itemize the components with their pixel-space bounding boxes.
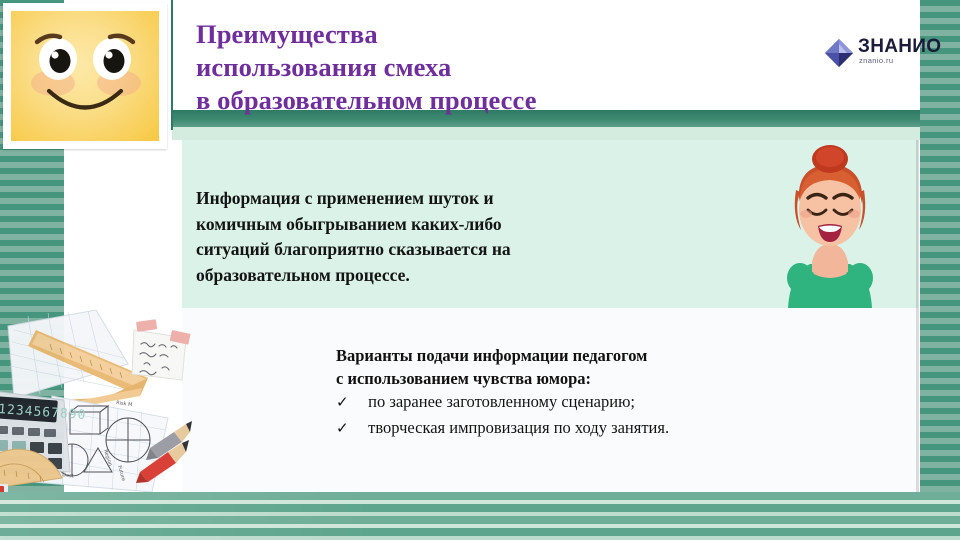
options-heading-line-2: с использованием чувства юмора:: [336, 367, 856, 390]
znanio-logo[interactable]: ЗНАНИО znanio.ru: [824, 36, 944, 76]
list-item-label: творческая импровизация по ходу занятия.: [368, 418, 669, 437]
intro-paragraph: Информация с применением шуток и комичны…: [196, 186, 666, 288]
page-title-line-2: использования смеха: [196, 51, 816, 84]
list-item: ✓ по заранее заготовленному сценарию;: [336, 390, 856, 416]
checkmark-icon: ✓: [336, 392, 364, 416]
school-supplies-illustration: Risk M Main Region Future Dest: [0, 300, 250, 492]
options-heading-line-1: Варианты подачи информации педагогом: [336, 344, 856, 367]
list-item: ✓ творческая импровизация по ходу заняти…: [336, 416, 856, 442]
header-mint-bar: [172, 127, 920, 140]
panel-right-edge-shadow: [916, 140, 919, 492]
logo-name: ЗНАНИО: [858, 36, 941, 57]
intro-line-3: ситуаций благоприятно сказывается на: [196, 237, 666, 263]
logo-subtitle: znanio.ru: [859, 56, 941, 65]
page-title-line-1: Преимущества: [196, 18, 816, 51]
bottom-band-highlight: [0, 492, 960, 540]
smiley-card: [3, 3, 167, 149]
options-block: Варианты подачи информации педагогом с и…: [336, 344, 856, 441]
blue-diamond-icon: [824, 38, 854, 68]
svg-text:Risk M: Risk M: [116, 400, 133, 408]
laughing-woman-illustration: [770, 144, 890, 308]
checkmark-icon: ✓: [336, 418, 364, 442]
page-title-line-3: в образовательном процессе: [196, 84, 816, 117]
page-title: Преимущества использования смеха в образ…: [196, 18, 816, 117]
intro-line-2: комичным обыгрыванием каких-либо: [196, 212, 666, 238]
intro-line-4: образовательном процессе.: [196, 263, 666, 289]
logo-text-group: ЗНАНИО znanio.ru: [858, 36, 941, 65]
list-item-label: по заранее заготовленному сценарию;: [368, 392, 635, 411]
smiling-face-icon: [11, 11, 159, 141]
intro-line-1: Информация с применением шуток и: [196, 186, 666, 212]
slide-canvas: Преимущества использования смеха в образ…: [0, 0, 960, 540]
header-vertical-divider: [171, 0, 173, 130]
handwritten-sticky-note: [128, 318, 200, 384]
